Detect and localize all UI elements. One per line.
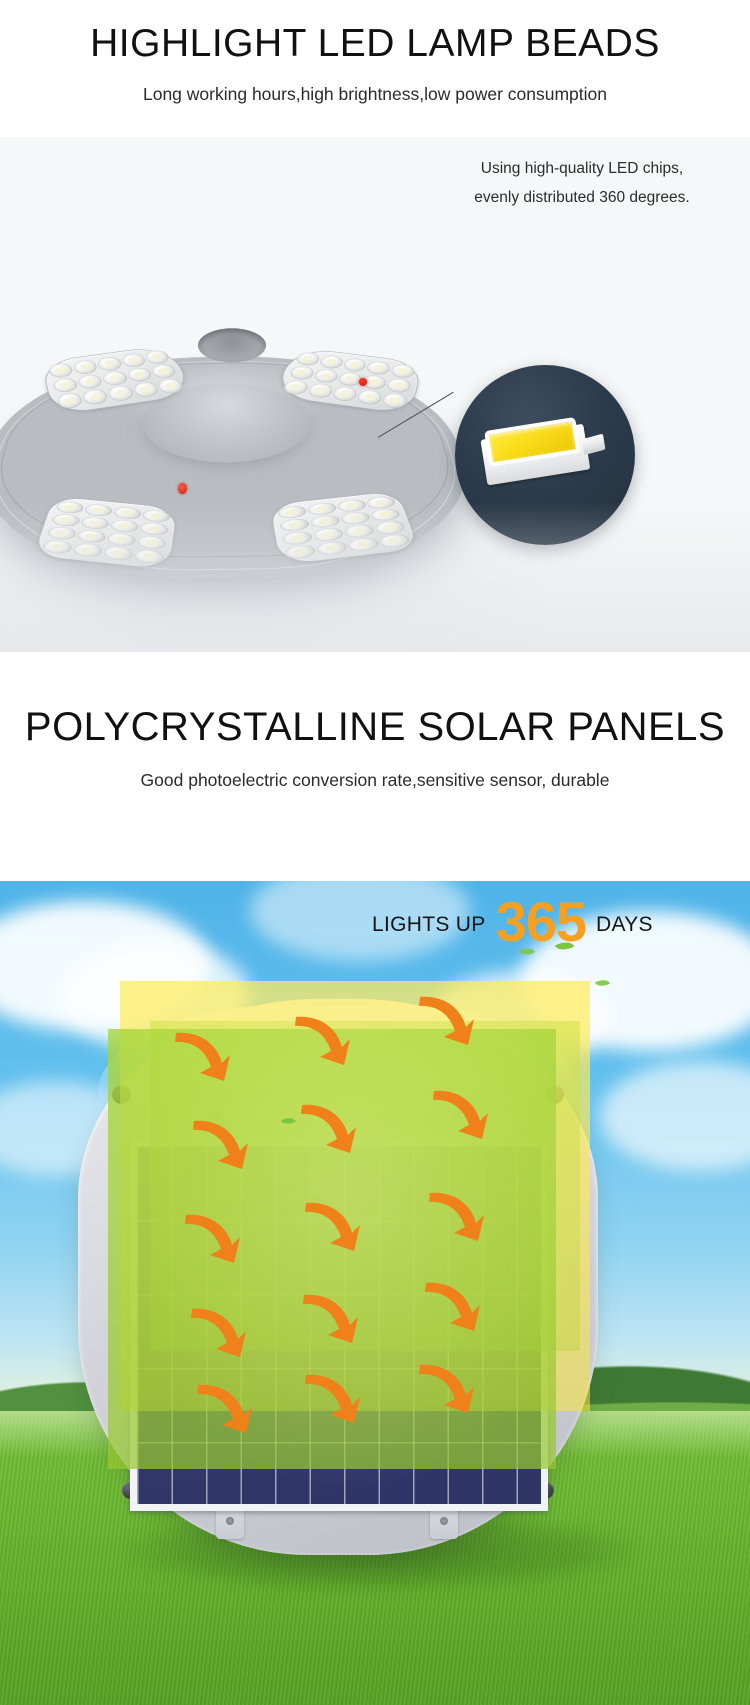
led-panel-bottom-left xyxy=(33,496,179,570)
absorption-arrow-icon xyxy=(296,1101,358,1159)
section-polycrystalline-solar-panels: POLYCRYSTALLINE SOLAR PANELS Good photoe… xyxy=(0,652,750,1705)
section2-subtitle: Good photoelectric conversion rate,sensi… xyxy=(0,770,750,791)
absorption-arrow-icon xyxy=(170,1029,232,1087)
absorption-arrow-icon xyxy=(188,1117,250,1175)
cloud-icon xyxy=(600,1061,750,1171)
smd-led-chip-icon xyxy=(479,413,599,492)
absorption-arrow-icon xyxy=(300,1371,362,1429)
led-chip-annotation: Using high-quality LED chips, evenly dis… xyxy=(432,155,732,212)
solar-panel-product-photo: LIGHTS UP 365 DAYS xyxy=(0,881,750,1705)
led-panel-bottom-right xyxy=(269,491,419,566)
absorption-arrow-icon xyxy=(290,1013,352,1071)
section1-subtitle: Long working hours,high brightness,low p… xyxy=(0,84,750,105)
lamp-socket xyxy=(197,328,267,362)
page-title: HIGHLIGHT LED LAMP BEADS xyxy=(0,22,750,67)
annotation-line-1: Using high-quality LED chips, xyxy=(432,155,732,184)
absorption-arrow-icon xyxy=(298,1291,360,1349)
lamp-head-illustration xyxy=(0,287,460,627)
section2-header: POLYCRYSTALLINE SOLAR PANELS Good photoe… xyxy=(0,652,750,881)
absorption-arrow-icon xyxy=(300,1199,362,1257)
absorption-arrow-icon xyxy=(186,1305,248,1363)
absorption-arrow-icon xyxy=(414,1361,476,1419)
absorption-arrow-icon xyxy=(414,993,476,1051)
absorption-arrow-icon xyxy=(180,1211,242,1269)
badge-number: 365 xyxy=(496,894,586,950)
section-led-lamp-beads: HIGHLIGHT LED LAMP BEADS Long working ho… xyxy=(0,0,750,652)
badge-suffix: DAYS xyxy=(596,913,653,937)
absorption-arrow-icon xyxy=(420,1279,482,1337)
section1-header: HIGHLIGHT LED LAMP BEADS Long working ho… xyxy=(0,0,750,137)
badge-prefix: LIGHTS UP xyxy=(372,913,486,937)
sensor-indicator-icon xyxy=(178,483,187,494)
absorption-arrow-icon xyxy=(192,1381,254,1439)
absorption-arrow-icon xyxy=(424,1189,486,1247)
led-chip-callout xyxy=(455,365,635,545)
callout-marker-icon xyxy=(359,378,367,386)
annotation-line-2: evenly distributed 360 degrees. xyxy=(432,184,732,213)
led-lamp-product-photo: Using high-quality LED chips, evenly dis… xyxy=(0,137,750,652)
section2-title: POLYCRYSTALLINE SOLAR PANELS xyxy=(0,704,750,750)
absorption-arrow-icon xyxy=(428,1087,490,1145)
